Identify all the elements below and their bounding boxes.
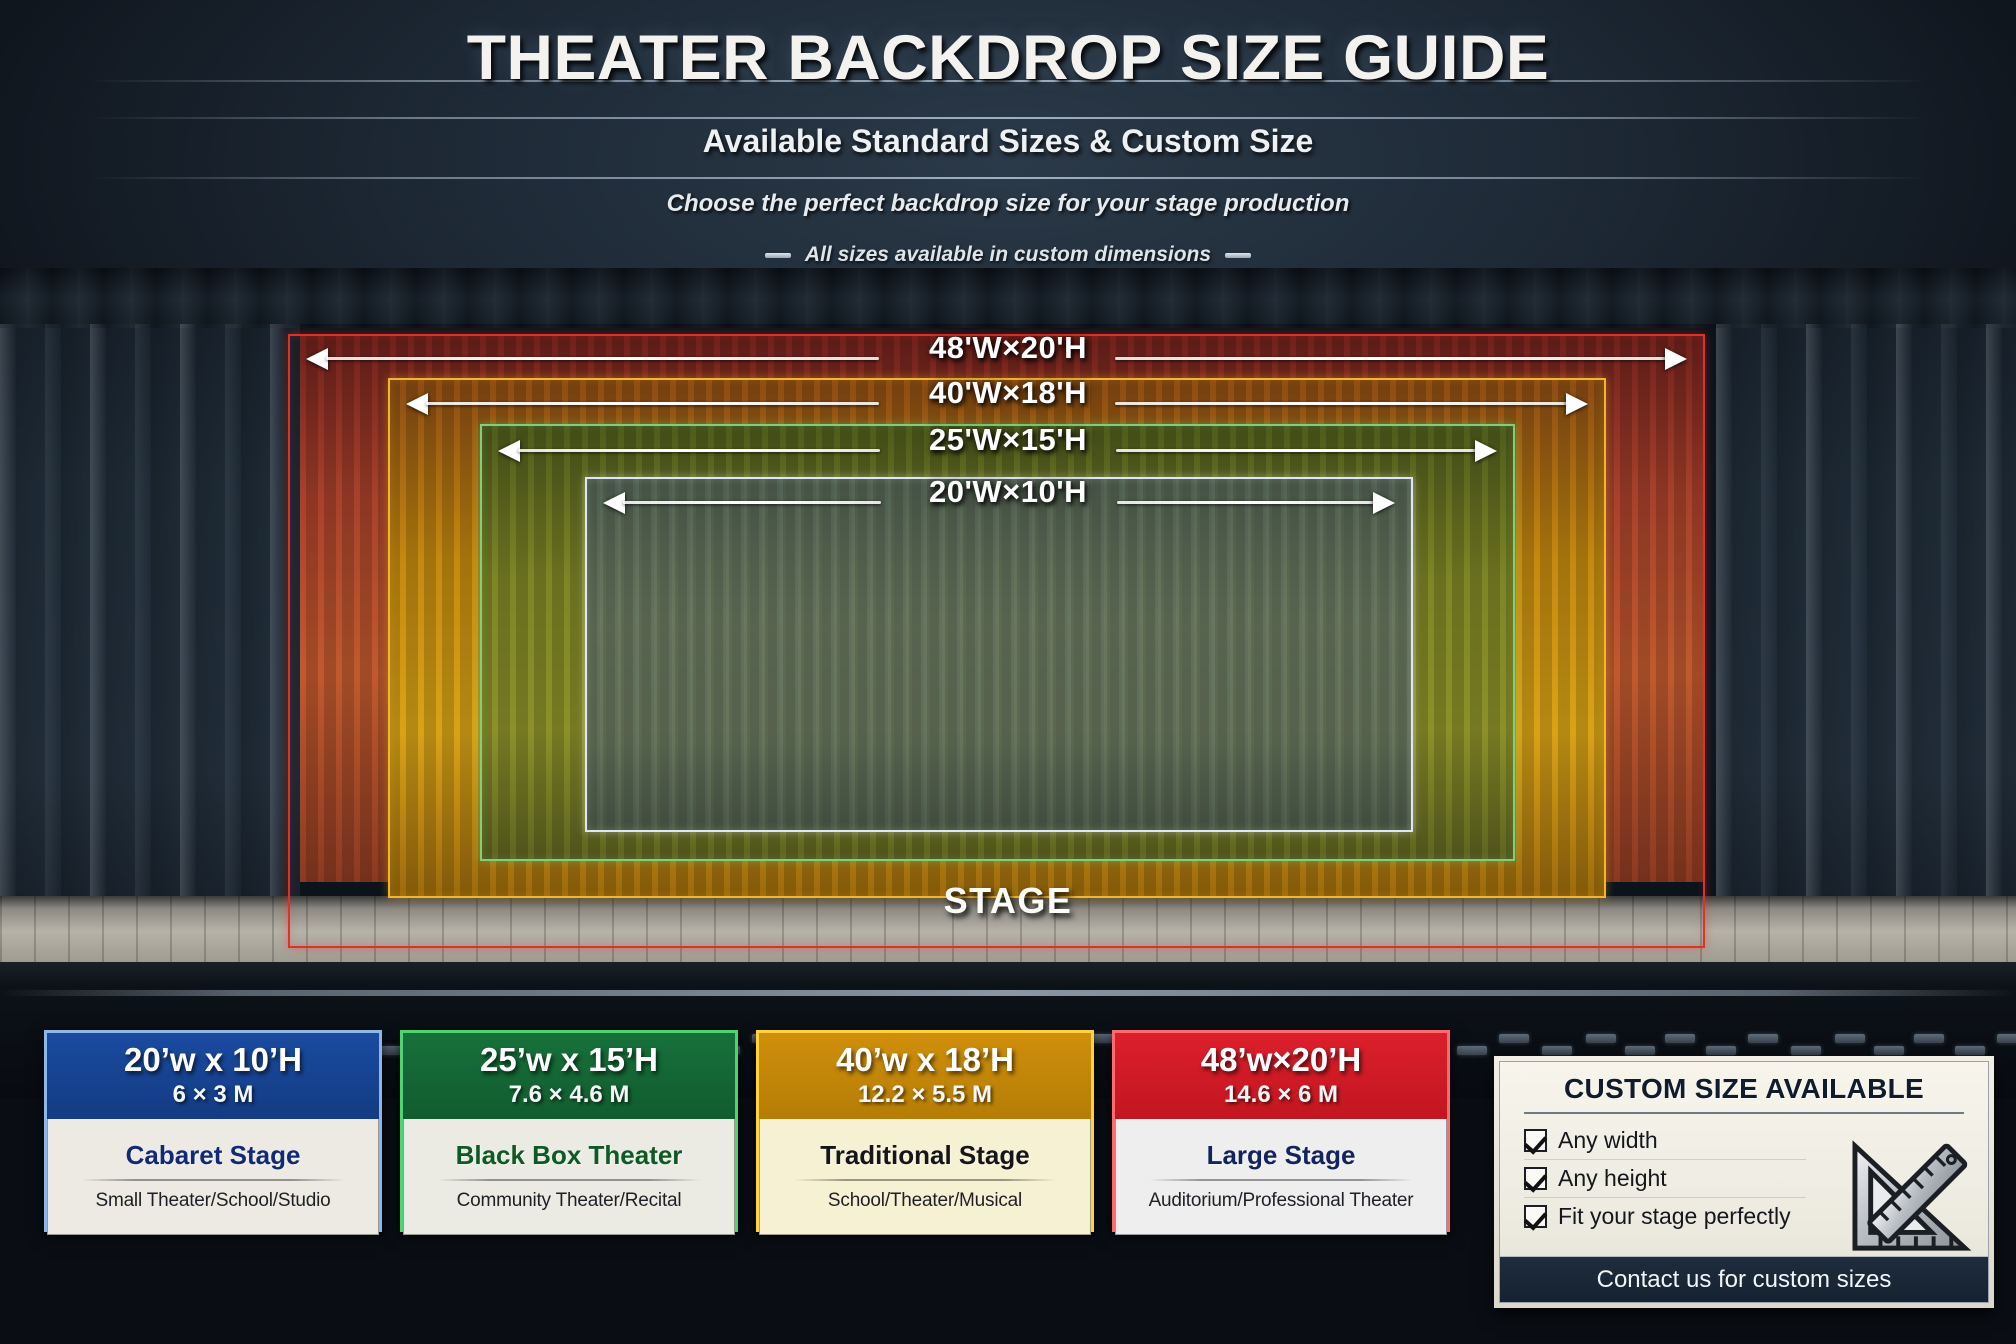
- card-name: Traditional Stage: [820, 1141, 1030, 1170]
- dash-left-icon: [765, 253, 791, 258]
- page-subnote: All sizes available in custom dimensions: [0, 243, 2016, 267]
- card-rule: [793, 1179, 1057, 1181]
- custom-feature-item[interactable]: Any height: [1524, 1160, 1806, 1198]
- custom-size-panel[interactable]: CUSTOM SIZE AVAILABLE Any widthAny heigh…: [1494, 1056, 1994, 1308]
- card-usage: Small Theater/School/Studio: [95, 1190, 330, 1212]
- card-metric: 14.6 × 6 M: [1224, 1081, 1338, 1109]
- card-usage: Auditorium/Professional Theater: [1149, 1190, 1414, 1212]
- card-usage: School/Theater/Musical: [828, 1190, 1022, 1212]
- checkbox-checked-icon[interactable]: [1524, 1129, 1547, 1152]
- card-body: Cabaret StageSmall Theater/School/Studio: [47, 1119, 379, 1235]
- stage-floor-edge: [0, 962, 2016, 988]
- header-divider-bottom: [88, 177, 1928, 179]
- custom-feature-item[interactable]: Any width: [1524, 1122, 1806, 1160]
- page-tagline: Choose the perfect backdrop size for you…: [0, 190, 2016, 218]
- card-rule: [437, 1179, 701, 1181]
- card-header: 20’w x 10’H6 × 3 M: [47, 1033, 379, 1119]
- size-rectangle-20x10: [585, 477, 1413, 832]
- card-dimension: 20’w x 10’H: [124, 1043, 302, 1078]
- size-card[interactable]: 20’w x 10’H6 × 3 MCabaret StageSmall The…: [44, 1030, 382, 1232]
- card-rule: [81, 1179, 345, 1181]
- subnote-text: All sizes available in custom dimensions: [805, 243, 1211, 267]
- custom-feature-label: Any height: [1558, 1165, 1667, 1192]
- card-name: Cabaret Stage: [126, 1141, 301, 1170]
- card-dimension: 48’w×20’H: [1201, 1043, 1362, 1078]
- card-name: Black Box Theater: [456, 1141, 683, 1170]
- dimension-label-25x15: 25'W×15'H: [0, 422, 2016, 458]
- page-title: THEATER BACKDROP SIZE GUIDE: [0, 22, 2016, 94]
- dash-right-icon: [1225, 253, 1251, 258]
- checkbox-checked-icon[interactable]: [1524, 1205, 1547, 1228]
- apron-light-beam: [0, 990, 2016, 996]
- card-metric: 7.6 × 4.6 M: [509, 1081, 630, 1109]
- custom-panel-title: CUSTOM SIZE AVAILABLE: [1500, 1062, 1988, 1112]
- card-body: Large StageAuditorium/Professional Theat…: [1115, 1119, 1447, 1235]
- custom-panel-footer[interactable]: Contact us for custom sizes: [1500, 1256, 1988, 1302]
- card-metric: 6 × 3 M: [173, 1081, 254, 1109]
- card-rule: [1149, 1179, 1413, 1181]
- dimension-label-40x18: 40'W×18'H: [0, 375, 2016, 411]
- card-name: Large Stage: [1207, 1141, 1356, 1170]
- card-body: Traditional StageSchool/Theater/Musical: [759, 1119, 1091, 1235]
- stage-label: STAGE: [0, 880, 2016, 922]
- custom-feature-item[interactable]: Fit your stage perfectly: [1524, 1198, 1806, 1235]
- custom-panel-divider: [1524, 1112, 1963, 1114]
- card-header: 25’w x 15’H7.6 × 4.6 M: [403, 1033, 735, 1119]
- size-card[interactable]: 40’w x 18’H12.2 × 5.5 MTraditional Stage…: [756, 1030, 1094, 1232]
- custom-feature-list: Any widthAny heightFit your stage perfec…: [1500, 1120, 1988, 1235]
- dimension-label-48x20: 48'W×20'H: [0, 330, 2016, 366]
- size-card[interactable]: 48’w×20’H14.6 × 6 MLarge StageAuditorium…: [1112, 1030, 1450, 1232]
- dimension-label-20x10: 20'W×10'H: [0, 474, 2016, 510]
- card-body: Black Box TheaterCommunity Theater/Recit…: [403, 1119, 735, 1235]
- size-card[interactable]: 25’w x 15’H7.6 × 4.6 MBlack Box TheaterC…: [400, 1030, 738, 1232]
- page-subtitle: Available Standard Sizes & Custom Size: [0, 123, 2016, 160]
- custom-feature-label: Fit your stage perfectly: [1558, 1203, 1791, 1230]
- infographic-root: 48'W×20'H 40'W×18'H 25'W×15'H 20'W×10'H …: [0, 0, 2016, 1344]
- card-dimension: 40’w x 18’H: [836, 1043, 1014, 1078]
- page-header: THEATER BACKDROP SIZE GUIDE Available St…: [0, 0, 2016, 285]
- card-header: 40’w x 18’H12.2 × 5.5 M: [759, 1033, 1091, 1119]
- header-divider-mid: [88, 117, 1928, 119]
- card-metric: 12.2 × 5.5 M: [858, 1081, 992, 1109]
- card-dimension: 25’w x 15’H: [480, 1043, 658, 1078]
- card-header: 48’w×20’H14.6 × 6 M: [1115, 1033, 1447, 1119]
- checkbox-checked-icon[interactable]: [1524, 1167, 1547, 1190]
- custom-feature-label: Any width: [1558, 1127, 1658, 1154]
- card-usage: Community Theater/Recital: [457, 1190, 682, 1212]
